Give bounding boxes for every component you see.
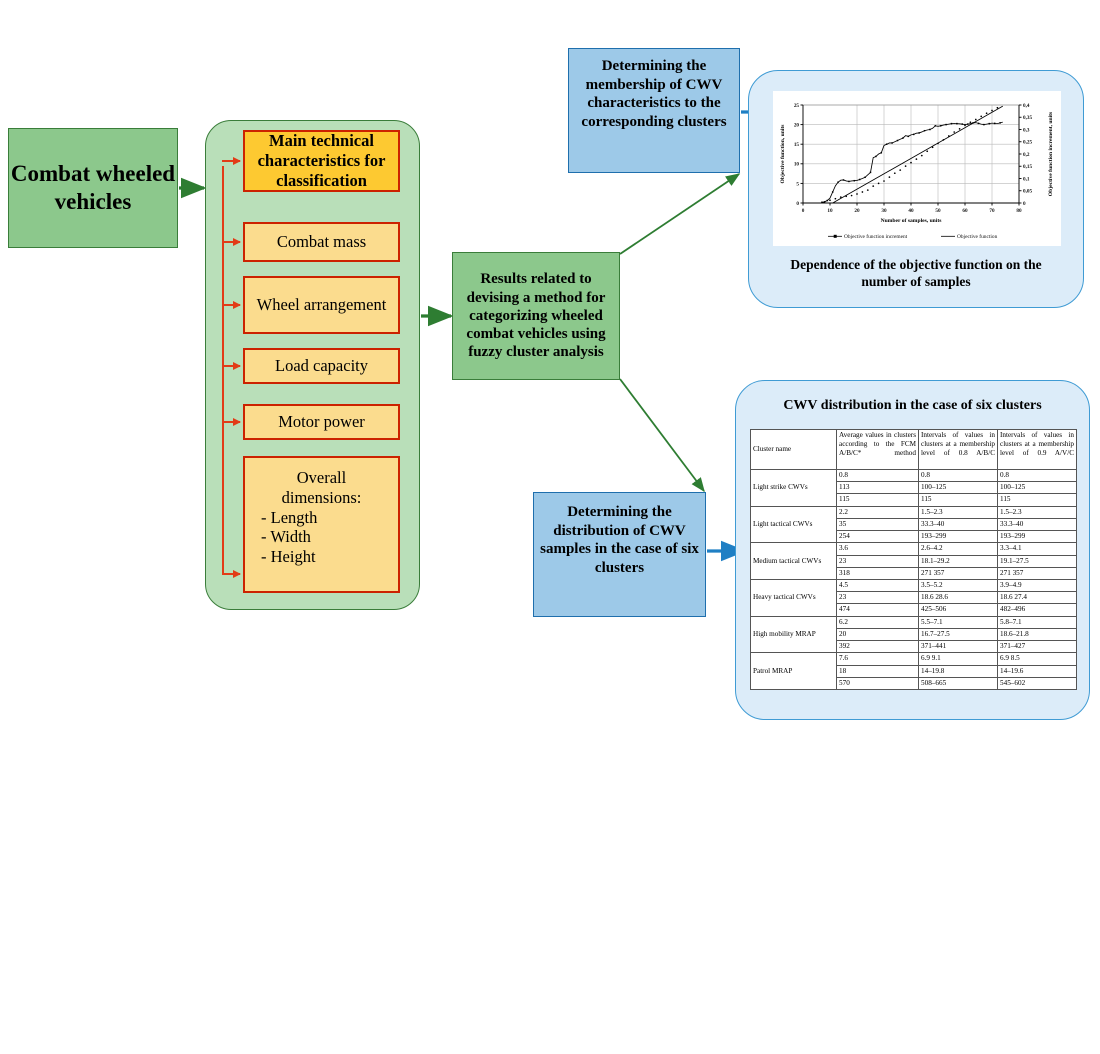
connector-arrow-6 xyxy=(222,573,240,575)
characteristic-label: Load capacity xyxy=(275,356,368,376)
svg-text:0,35: 0,35 xyxy=(1023,115,1032,121)
table-header-row: Cluster name Average values in clusters … xyxy=(751,430,1077,470)
cell-average-value: 254 xyxy=(837,531,919,543)
svg-text:0: 0 xyxy=(1023,201,1026,207)
chart-svg: 051015202500,050,10,150,20,250,30,350,40… xyxy=(773,91,1061,246)
svg-text:0,05: 0,05 xyxy=(1023,189,1032,195)
cell-interval-08: 0.8 xyxy=(919,470,998,482)
characteristic-label: Combat mass xyxy=(277,232,366,252)
cell-interval-08: 100–125 xyxy=(919,482,998,494)
svg-text:20: 20 xyxy=(854,208,860,214)
cell-interval-09: 3.3–4.1 xyxy=(998,543,1077,555)
table-result-panel: CWV distribution in the case of six clus… xyxy=(735,380,1090,720)
cell-cluster-name: Light strike CWVs xyxy=(751,470,837,507)
connector-arrow-4 xyxy=(222,365,240,367)
cell-interval-08: 18.6 28.6 xyxy=(919,592,998,604)
cell-interval-08: 33.3–40 xyxy=(919,518,998,530)
table-row: Medium tactical CWVs3.62.6–4.23.3–4.1 xyxy=(751,543,1077,555)
cell-average-value: 23 xyxy=(837,592,919,604)
svg-text:30: 30 xyxy=(881,208,887,214)
svg-text:Objective function: Objective function xyxy=(957,233,998,240)
table-caption: CWV distribution in the case of six clus… xyxy=(736,397,1089,415)
cell-average-value: 115 xyxy=(837,494,919,506)
characteristics-spine xyxy=(222,166,224,574)
cell-average-value: 318 xyxy=(837,567,919,579)
table-row: Light strike CWVs0.80.80.8 xyxy=(751,470,1077,482)
table-row: Light tactical CWVs2.21.5–2.31.5–2.3 xyxy=(751,506,1077,518)
cell-average-value: 3.6 xyxy=(837,543,919,555)
process-node-distribution: Determining the distribution of CWV samp… xyxy=(533,492,706,617)
svg-text:0,2: 0,2 xyxy=(1023,152,1030,158)
process-node-label: Determining the distribution of CWV samp… xyxy=(534,503,705,577)
overall-dim-line: - Height xyxy=(245,547,398,567)
characteristic-label: Wheel arrangement xyxy=(257,295,387,315)
column-header-intervals-09: Intervals of values in clusters at a mem… xyxy=(998,430,1077,470)
svg-text:0,15: 0,15 xyxy=(1023,164,1032,170)
characteristic-box-main: Main technical characteristics for class… xyxy=(243,130,400,192)
overall-dim-line: dimensions: xyxy=(245,488,398,508)
table-head: Cluster name Average values in clusters … xyxy=(751,430,1077,470)
svg-text:80: 80 xyxy=(1016,208,1022,214)
cell-interval-09: 115 xyxy=(998,494,1077,506)
connector-arrow-1 xyxy=(222,160,240,162)
table-row: Heavy tactical CWVs4.53.5–5.23.9–4.9 xyxy=(751,579,1077,591)
cell-cluster-name: High mobility MRAP xyxy=(751,616,837,653)
svg-text:50: 50 xyxy=(935,208,941,214)
svg-text:Objective function increment: Objective function increment xyxy=(844,233,908,240)
cell-interval-09: 3.9–4.9 xyxy=(998,579,1077,591)
cell-interval-09: 371–427 xyxy=(998,641,1077,653)
cell-interval-09: 1.5–2.3 xyxy=(998,506,1077,518)
cell-interval-08: 193–299 xyxy=(919,531,998,543)
characteristic-box-combat-mass: Combat mass xyxy=(243,222,400,262)
cell-interval-08: 115 xyxy=(919,494,998,506)
cell-interval-09: 14–19.6 xyxy=(998,665,1077,677)
cell-interval-09: 6.9 8.5 xyxy=(998,653,1077,665)
svg-text:5: 5 xyxy=(796,181,799,187)
overall-dim-line: - Length xyxy=(245,508,398,528)
characteristic-box-overall-dimensions: Overall dimensions: - Length - Width - H… xyxy=(243,456,400,593)
table-row: Patrol MRAP7.66.9 9.16.9 8.5 xyxy=(751,653,1077,665)
cell-interval-08: 3.5–5.2 xyxy=(919,579,998,591)
cell-interval-08: 14–19.8 xyxy=(919,665,998,677)
cell-interval-08: 5.5–7.1 xyxy=(919,616,998,628)
cell-average-value: 392 xyxy=(837,641,919,653)
svg-text:20: 20 xyxy=(794,123,800,129)
cell-average-value: 113 xyxy=(837,482,919,494)
svg-text:70: 70 xyxy=(989,208,995,214)
chart-caption: Dependence of the objective function on … xyxy=(749,257,1083,291)
characteristic-box-wheel-arrangement: Wheel arrangement xyxy=(243,276,400,334)
cell-average-value: 18 xyxy=(837,665,919,677)
svg-text:Objective function increment,: Objective function increment, units xyxy=(1048,111,1054,196)
source-node-label: Combat wheeled vehicles xyxy=(9,160,177,216)
cell-interval-08: 2.6–4.2 xyxy=(919,543,998,555)
svg-text:0: 0 xyxy=(796,201,799,207)
characteristic-box-load-capacity: Load capacity xyxy=(243,348,400,384)
process-node-membership: Determining the membership of CWV charac… xyxy=(568,48,740,173)
svg-text:0,3: 0,3 xyxy=(1023,127,1030,133)
cell-interval-08: 18.1–29.2 xyxy=(919,555,998,567)
cell-interval-09: 100–125 xyxy=(998,482,1077,494)
cell-interval-08: 371–441 xyxy=(919,641,998,653)
connector-arrow-5 xyxy=(222,421,240,423)
characteristic-label: Main technical characteristics for class… xyxy=(245,131,398,190)
overall-dim-line: - Width xyxy=(245,527,398,547)
cell-cluster-name: Patrol MRAP xyxy=(751,653,837,690)
objective-function-chart: 051015202500,050,10,150,20,250,30,350,40… xyxy=(773,91,1061,246)
cell-interval-08: 1.5–2.3 xyxy=(919,506,998,518)
cell-interval-08: 16.7–27.5 xyxy=(919,628,998,640)
cell-average-value: 20 xyxy=(837,628,919,640)
svg-text:0: 0 xyxy=(802,208,805,214)
cell-average-value: 7.6 xyxy=(837,653,919,665)
svg-text:0,25: 0,25 xyxy=(1023,140,1032,146)
cell-average-value: 570 xyxy=(837,677,919,689)
cell-interval-09: 5.8–7.1 xyxy=(998,616,1077,628)
cell-interval-09: 18.6 27.4 xyxy=(998,592,1077,604)
svg-text:40: 40 xyxy=(908,208,914,214)
cwv-distribution-table: Cluster name Average values in clusters … xyxy=(750,429,1077,690)
cell-average-value: 474 xyxy=(837,604,919,616)
connector-arrow-2 xyxy=(222,241,240,243)
cell-cluster-name: Heavy tactical CWVs xyxy=(751,579,837,616)
cell-interval-09: 193–299 xyxy=(998,531,1077,543)
characteristic-label: Motor power xyxy=(278,412,365,432)
characteristic-box-motor-power: Motor power xyxy=(243,404,400,440)
cell-interval-09: 33.3–40 xyxy=(998,518,1077,530)
overall-dim-line: Overall xyxy=(245,468,398,488)
cell-interval-09: 19.1–27.5 xyxy=(998,555,1077,567)
table-body: Light strike CWVs0.80.80.8113100–125100–… xyxy=(751,470,1077,690)
cell-average-value: 6.2 xyxy=(837,616,919,628)
cell-average-value: 23 xyxy=(837,555,919,567)
cell-interval-09: 482–496 xyxy=(998,604,1077,616)
cell-cluster-name: Medium tactical CWVs xyxy=(751,543,837,580)
cell-interval-08: 271 357 xyxy=(919,567,998,579)
svg-text:10: 10 xyxy=(827,208,833,214)
cell-interval-09: 0.8 xyxy=(998,470,1077,482)
svg-text:15: 15 xyxy=(794,142,800,148)
cell-average-value: 0.8 xyxy=(837,470,919,482)
svg-text:Objective function, units: Objective function, units xyxy=(780,124,786,184)
cell-average-value: 35 xyxy=(837,518,919,530)
source-node-combat-wheeled-vehicles: Combat wheeled vehicles xyxy=(8,128,178,248)
svg-text:Number of samples, units: Number of samples, units xyxy=(881,218,943,224)
connector-arrow-3 xyxy=(222,304,240,306)
cell-interval-09: 545–602 xyxy=(998,677,1077,689)
results-node: Results related to devising a method for… xyxy=(452,252,620,380)
svg-text:25: 25 xyxy=(794,103,800,109)
process-node-label: Determining the membership of CWV charac… xyxy=(569,57,739,131)
chart-result-panel: 051015202500,050,10,150,20,250,30,350,40… xyxy=(748,70,1084,308)
cell-cluster-name: Light tactical CWVs xyxy=(751,506,837,543)
column-header-average-values: Average values in clusters according to … xyxy=(837,430,919,470)
column-header-intervals-08: Intervals of values in clusters at a mem… xyxy=(919,430,998,470)
cell-average-value: 4.5 xyxy=(837,579,919,591)
svg-text:0,1: 0,1 xyxy=(1023,176,1030,182)
svg-text:10: 10 xyxy=(794,162,800,168)
cell-interval-08: 508–665 xyxy=(919,677,998,689)
cell-interval-08: 6.9 9.1 xyxy=(919,653,998,665)
table-row: High mobility MRAP6.25.5–7.15.8–7.1 xyxy=(751,616,1077,628)
cell-interval-09: 18.6–21.8 xyxy=(998,628,1077,640)
svg-text:60: 60 xyxy=(962,208,968,214)
svg-text:0,4: 0,4 xyxy=(1023,103,1030,109)
cell-interval-09: 271 357 xyxy=(998,567,1077,579)
column-header-cluster-name: Cluster name xyxy=(751,430,837,470)
results-node-label: Results related to devising a method for… xyxy=(457,270,615,361)
cell-interval-08: 425–506 xyxy=(919,604,998,616)
cell-average-value: 2.2 xyxy=(837,506,919,518)
